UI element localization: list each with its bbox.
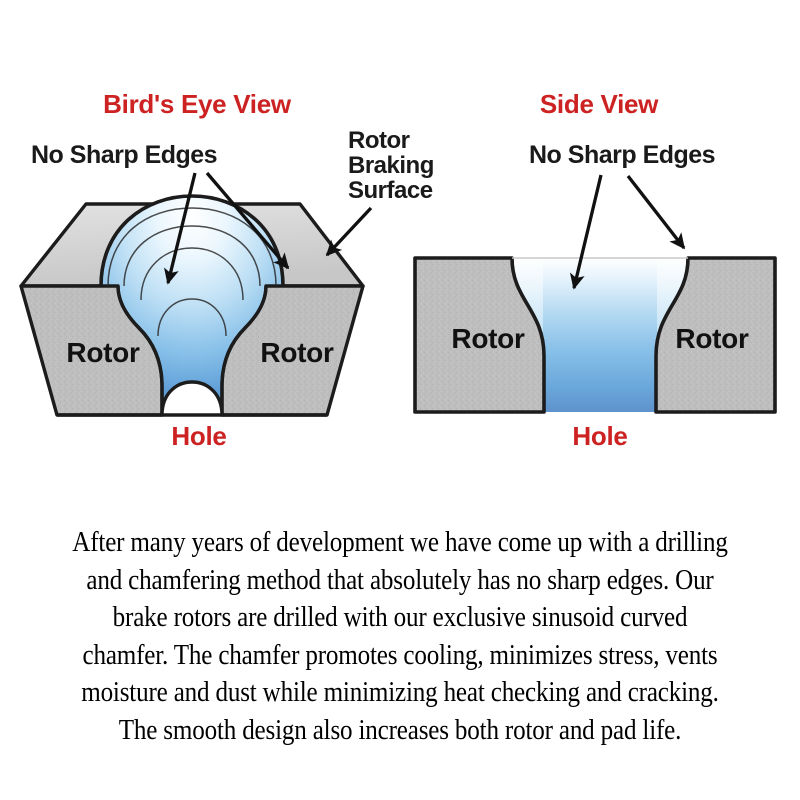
left-hole-label: Hole xyxy=(171,421,226,451)
figure-layer: Bird's Eye View xyxy=(0,0,800,480)
caption-line: moisture and dust while minimizing heat … xyxy=(48,674,752,712)
caption-line: chamfer. The chamfer promotes cooling, m… xyxy=(48,637,752,675)
left-rotor-label-right: Rotor xyxy=(260,337,334,368)
caption-line: brake rotors are drilled with our exclus… xyxy=(48,599,752,637)
caption-line: After many years of development we have … xyxy=(48,524,752,562)
right-no-sharp-edges-label: No Sharp Edges xyxy=(529,141,715,169)
right-view-group: Side View Rotor Rotor No Sharp Edges xyxy=(415,89,775,451)
caption-block: After many years of development we have … xyxy=(0,524,800,749)
braking-surface-label-line3: Surface xyxy=(348,177,433,204)
right-view-title: Side View xyxy=(540,89,659,119)
braking-surface-label-line1: Rotor xyxy=(348,127,410,154)
right-arrow-to-chamfer xyxy=(628,176,684,248)
left-view-group: Bird's Eye View xyxy=(21,89,434,451)
diagram-page: Bird's Eye View xyxy=(0,0,800,800)
side-hole-bore-fill xyxy=(543,258,657,412)
caption-line: and chamfering method that absolutely ha… xyxy=(48,562,752,600)
side-rotor-label-right: Rotor xyxy=(675,323,749,354)
braking-surface-label-line2: Braking xyxy=(348,152,434,179)
right-hole-label: Hole xyxy=(572,421,627,451)
left-no-sharp-edges-label: No Sharp Edges xyxy=(31,141,217,169)
rotor-diagram-svg: Bird's Eye View xyxy=(0,0,800,480)
left-rotor-label-left: Rotor xyxy=(66,337,140,368)
left-view-title: Bird's Eye View xyxy=(103,89,292,119)
side-rotor-label-left: Rotor xyxy=(451,323,525,354)
braking-surface-arrow xyxy=(327,208,371,255)
caption-line: The smooth design also increases both ro… xyxy=(48,712,752,750)
